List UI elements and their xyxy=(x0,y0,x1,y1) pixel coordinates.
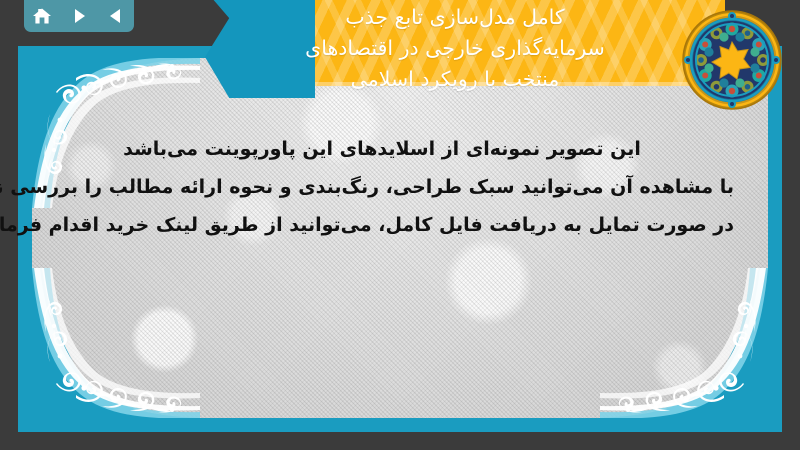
slide-body-text: این تصویر نمونه‌ای از اسلایدهای این پاور… xyxy=(30,130,734,244)
body-line-1: این تصویر نمونه‌ای از اسلایدهای این پاور… xyxy=(30,130,734,168)
slide-viewer: کامل مدل‌سازی تابع جذب سرمایه‌گذاری خارج… xyxy=(0,0,800,450)
islamic-medallion-icon xyxy=(680,8,784,112)
title-line-1: کامل مدل‌سازی تابع جذب xyxy=(230,2,680,33)
back-button[interactable] xyxy=(103,4,129,28)
forward-triangle-icon xyxy=(69,6,89,26)
forward-button[interactable] xyxy=(66,4,92,28)
home-icon xyxy=(31,6,53,26)
home-button[interactable] xyxy=(29,4,55,28)
back-triangle-icon xyxy=(106,6,126,26)
body-line-2: با مشاهده آن می‌توانید سبک طراحی، رنگ‌بن… xyxy=(30,168,734,206)
navigation-bar xyxy=(24,0,134,32)
arabesque-corner-icon xyxy=(32,268,200,418)
arabesque-corner-icon xyxy=(600,268,768,418)
body-line-3: در صورت تمایل به دریافت فایل کامل، می‌تو… xyxy=(30,206,734,244)
